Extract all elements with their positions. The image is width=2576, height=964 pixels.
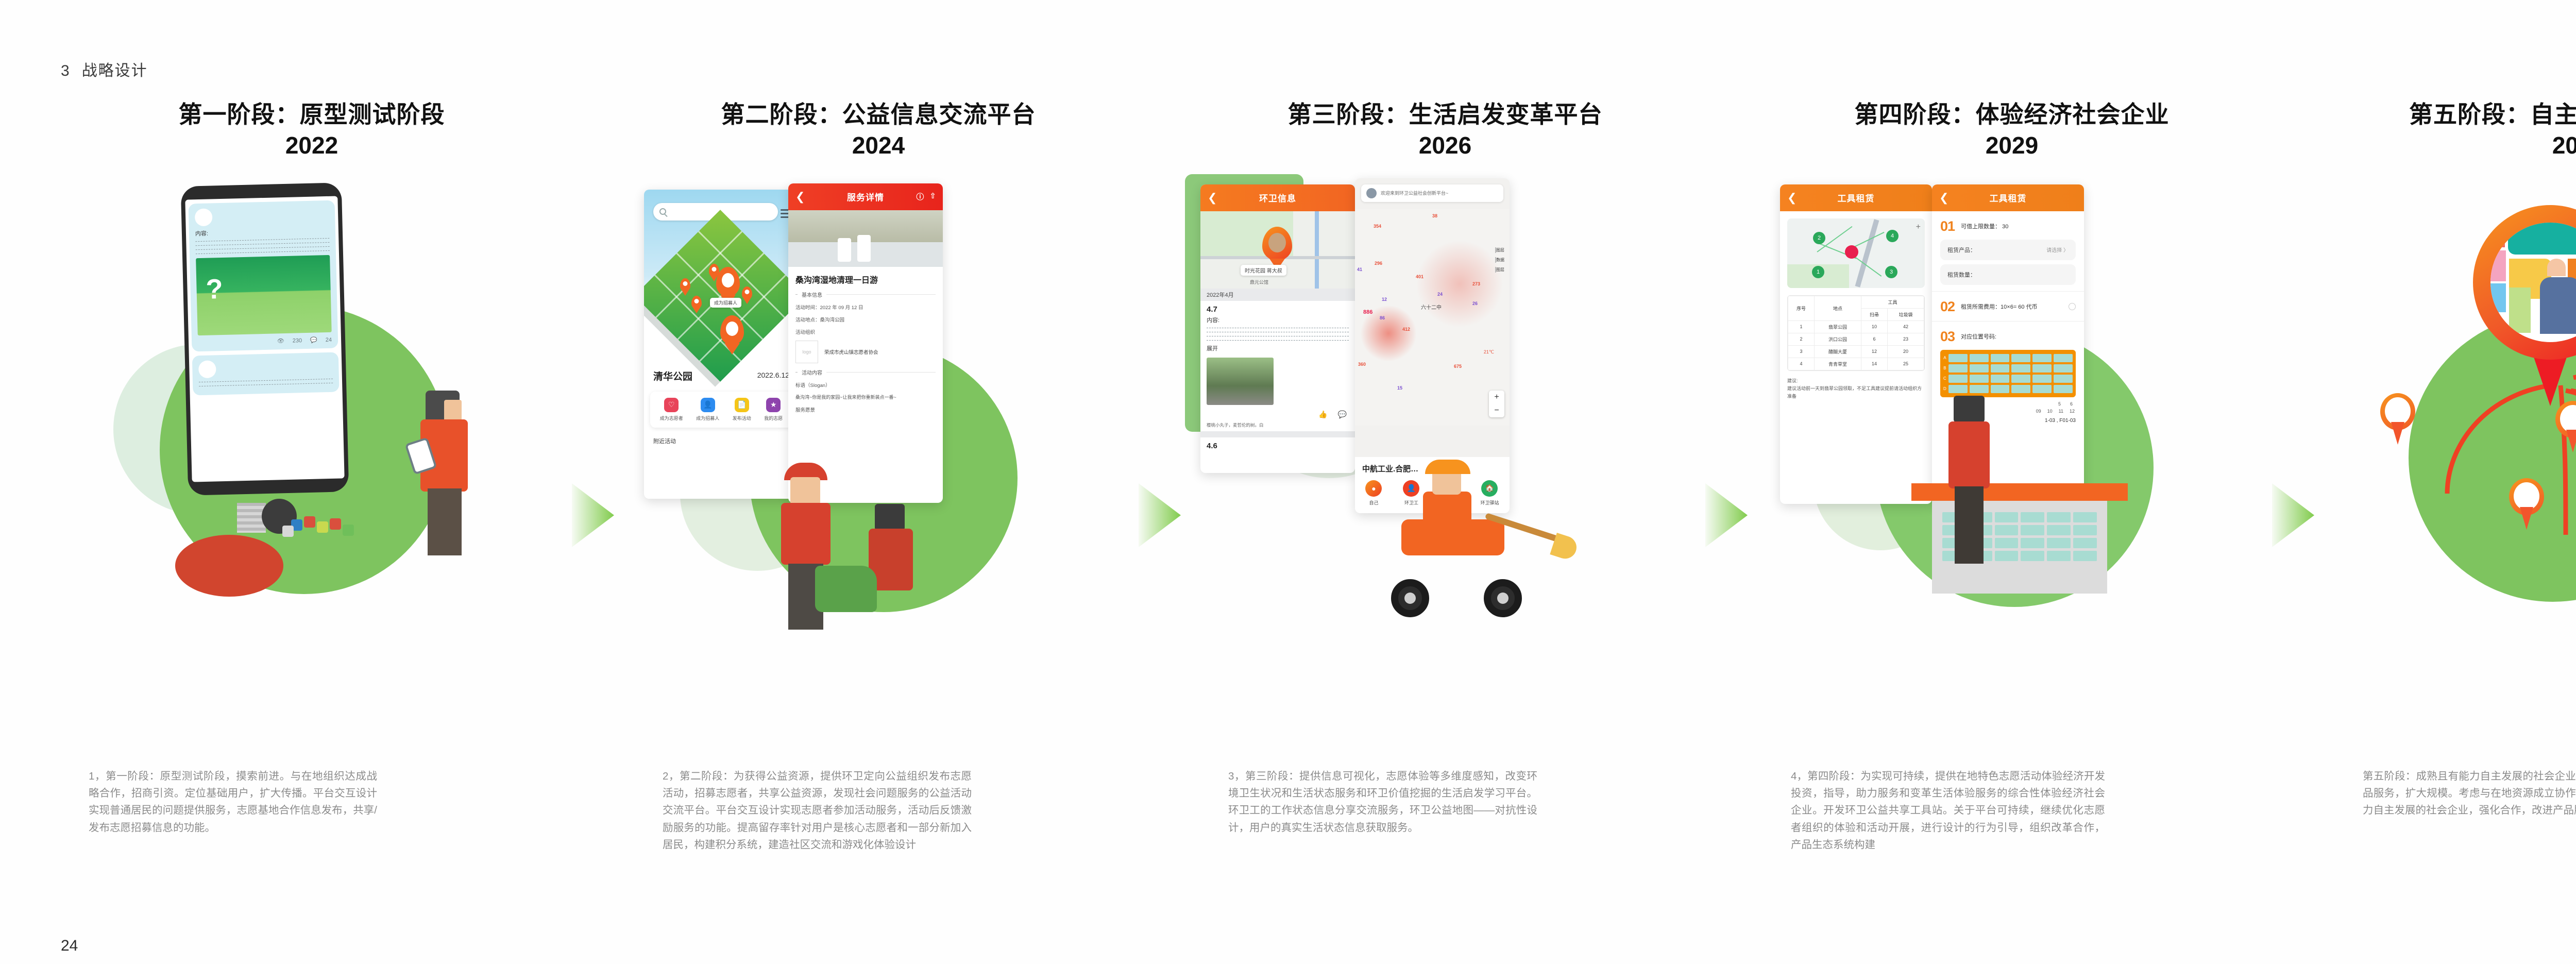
rating-value-2: 4.6 xyxy=(1207,442,1349,450)
share-icon[interactable]: ⇧ xyxy=(929,191,937,202)
litter-item xyxy=(330,518,341,530)
step-text: 对应位置号码: xyxy=(1961,332,1996,341)
map-pin[interactable] xyxy=(680,278,690,292)
map-pin-label: 时光花园 蒋大叔 xyxy=(1241,265,1286,276)
locker-row-label: D xyxy=(1943,386,1946,391)
cell: 25 xyxy=(1888,358,1924,370)
step-3: 03 对应位置号码: xyxy=(1940,329,2076,345)
litter-pile xyxy=(237,499,355,540)
slogan-text: 桑沟湾~你是我的家园~让我来把你重新装点一番~ xyxy=(795,394,936,401)
person-at-shelf xyxy=(1942,396,2004,576)
stage-1-illustration: 内容: ? 👁 230 💬 24 xyxy=(52,174,572,664)
expand-link[interactable]: 展开 xyxy=(1207,344,1349,352)
col-index: 序号 xyxy=(1788,296,1815,320)
stage-1-year: 2022 xyxy=(52,130,572,161)
stage-2-illustration: 成为招募人 清华公园 2022.6.12 ♡ 成为志愿者 👤 成为招募人 xyxy=(618,174,1139,664)
stage-5-year: 2032 xyxy=(2318,130,2576,161)
person-torso xyxy=(1948,421,1990,488)
page-number-left: 24 xyxy=(61,937,78,955)
heat-value: 12 xyxy=(1382,297,1387,302)
detail-title-bar: ❮ 服务详情 ⓘ ⇧ xyxy=(788,183,943,210)
text-line xyxy=(199,378,333,382)
text-line xyxy=(196,242,330,245)
stage-1-title: 第一阶段：原型测试阶段 xyxy=(52,0,572,130)
cell: 12 xyxy=(1861,345,1887,358)
avatar xyxy=(195,208,213,226)
arrow-icon xyxy=(1705,483,1748,547)
quick-action-mine[interactable]: ★ 我的志愿 xyxy=(764,398,783,421)
map-region-navy xyxy=(2540,277,2576,334)
step-number: 03 xyxy=(1940,329,1955,345)
person-face xyxy=(790,477,820,505)
tool-rental-map-mockup: ❮ 工具租赁 1 2 3 4 + xyxy=(1780,184,1932,504)
heat-value: 38 xyxy=(1432,213,1437,218)
col-bag: 垃圾袋 xyxy=(1888,308,1924,320)
locker-row-label: B xyxy=(1943,366,1946,370)
litter-item xyxy=(304,516,315,528)
sanitation-worker-scooter xyxy=(1355,463,1577,617)
stage-5-illustration xyxy=(2318,174,2576,664)
text-line xyxy=(196,250,330,253)
quick-action-row: ♡ 成为志愿者 👤 成为招募人 📄 发布活动 ★ 我的志愿 xyxy=(650,392,792,428)
stage-4-title: 第四阶段：体验经济社会企业 xyxy=(1752,0,2272,130)
comment-icon[interactable]: 💬 xyxy=(1338,410,1347,419)
activity-org-label: 活动组织 xyxy=(795,328,936,335)
cell: 14 xyxy=(1861,358,1887,370)
heat-value: 886 xyxy=(1363,309,1372,315)
person-head xyxy=(1954,396,1985,422)
vision-label: 服务愿景 xyxy=(795,406,936,413)
heart-hands-icon: ♡ xyxy=(664,398,679,412)
heat-value: 360 xyxy=(1358,362,1366,367)
service-detail-mockup: ❮ 服务详情 ⓘ ⇧ 桑沟湾湿地清理一日游 基本信息 活动时间：2022 年 0… xyxy=(788,183,943,503)
stage-4: 第四阶段：体验经济社会企业 2029 ❮ 工具租赁 1 xyxy=(1752,0,2272,964)
table-row: 4青青草堂1425 xyxy=(1788,358,1924,370)
stage-5: 第五阶段：自主发展的社会企业 2032 xyxy=(2318,0,2576,964)
locker-cells xyxy=(1948,354,2073,393)
cell: 1 xyxy=(1788,320,1815,333)
section-label: 活动内容 xyxy=(802,368,822,376)
map-place-name: 清华公园 xyxy=(653,369,692,383)
col-tools: 工具 xyxy=(1861,296,1924,308)
arrow-4 xyxy=(2272,0,2318,964)
step-1: 01 可借上限数量： 30 xyxy=(1940,218,2076,234)
satellite-pin[interactable] xyxy=(2555,401,2576,452)
main-map-pin xyxy=(2473,205,2576,406)
section-label: 基本信息 xyxy=(802,291,822,298)
heat-value: 273 xyxy=(1472,281,1480,286)
photo-person xyxy=(838,238,851,262)
ground-red-patch xyxy=(175,535,283,597)
post-meta: 👁 230 💬 24 xyxy=(198,336,332,346)
step-text: 租赁所需费用：10×6= 60 代币 xyxy=(1961,302,2038,311)
rating-value: 4.7 xyxy=(1207,305,1349,314)
cell: 洪口公园 xyxy=(1815,333,1861,345)
heat-value: 86 xyxy=(1380,315,1385,320)
back-icon[interactable]: ❮ xyxy=(1939,191,1949,205)
map-pin-label: 成为招募人 xyxy=(710,298,741,308)
arrow-1 xyxy=(572,0,618,964)
layer-control-item[interactable]: 图层 xyxy=(1493,267,1506,273)
layer-label: 图层 xyxy=(1496,267,1504,272)
locker-col-label: 6 xyxy=(2070,401,2073,407)
photo-person xyxy=(857,235,871,262)
step-number: 02 xyxy=(1940,299,1955,315)
station-map[interactable]: 1 2 3 4 + xyxy=(1787,218,1925,288)
heat-value: 412 xyxy=(1402,327,1410,332)
litter-item xyxy=(343,525,354,536)
current-location-marker xyxy=(1845,245,1858,259)
advice-label: 建议: xyxy=(1787,377,1925,385)
stage-3: 第三阶段：生活启发变革平台 2026 ❮ 环卫信息 时光花园 蒋大叔 鼎元公馆 xyxy=(1185,0,1705,964)
info-icon[interactable]: ⓘ xyxy=(916,191,924,202)
satellite-pin[interactable] xyxy=(2380,393,2415,445)
advice-text: 建议活动前一天到翡翠公园领取，不足工具建议提前请活动组织方准备 xyxy=(1787,385,1925,401)
content-label: 内容: xyxy=(1207,316,1349,324)
cell: 翡翠公园 xyxy=(1815,320,1861,333)
quick-action-label: 成为志愿者 xyxy=(660,415,683,421)
organizer-name: 荣成市虎山镇志愿者协会 xyxy=(824,348,878,356)
cell: 青青草堂 xyxy=(1815,358,1861,370)
tool-inventory-table: 序号 地点 工具 扫帚 垃圾袋 1翡翠公园1042 2洪口公园623 xyxy=(1787,295,1925,371)
step-2: 02 租赁所需费用：10×6= 60 代币 xyxy=(1940,299,2076,315)
stage-2-description: 2，第二阶段：为获得公益资源，提供环卫定向公益组织发布志愿活动，招募志愿者，共享… xyxy=(663,768,972,853)
step-number: 01 xyxy=(1940,218,1955,234)
temperature: 21℃ xyxy=(1484,349,1494,355)
litter-item xyxy=(317,521,328,533)
sanitation-info-mockup: ❮ 环卫信息 时光花园 蒋大叔 鼎元公馆 2022年4月 4.7 内容: xyxy=(1200,184,1355,473)
locker-num: 09 xyxy=(2036,409,2041,414)
advice-block: 建议: 建议活动前一天到翡翠公园领取，不足工具建议提前请活动组织方准备 xyxy=(1787,377,1925,401)
text-line xyxy=(196,246,330,249)
table-row: 1翡翠公园1042 xyxy=(1788,320,1924,333)
quick-action-recruiter[interactable]: 👤 成为招募人 xyxy=(696,398,719,421)
section-basic-info: 基本信息 xyxy=(795,291,936,298)
field-label: 租赁产品： xyxy=(1947,246,1976,254)
map-landmark: 六十二中 xyxy=(1421,303,1442,311)
scooter-wheel-rear xyxy=(1484,579,1522,617)
cell: 23 xyxy=(1888,333,1924,345)
map-screen-mockup: 成为招募人 清华公园 2022.6.12 ♡ 成为志愿者 👤 成为招募人 xyxy=(644,190,799,499)
date-band: 2022年4月 xyxy=(1200,289,1355,301)
col-place: 地点 xyxy=(1815,296,1861,320)
home-button[interactable] xyxy=(258,400,276,418)
platform-search-bar[interactable]: 欢迎来到环卫公益社会创新平台~ xyxy=(1361,184,1503,202)
table-row: 2洪口公园623 xyxy=(1788,333,1924,345)
feed-content-label: 内容: xyxy=(195,226,329,237)
rental-form-bar-title: 工具租赁 xyxy=(1990,191,2027,204)
comment-text: 樱桃小丸子，麦哲伦的树。白 xyxy=(1207,422,1349,428)
stage-3-title: 第三阶段：生活启发变革平台 xyxy=(1185,0,1705,130)
satellite-pin[interactable] xyxy=(2509,478,2544,530)
detail-bar-title: 服务详情 xyxy=(847,190,884,203)
map-pin[interactable] xyxy=(691,296,702,309)
person-face xyxy=(444,400,462,422)
litter-item xyxy=(282,526,294,537)
stage-4-description: 4，第四阶段：为实现可持续，提供在地特色志愿活动体验经济开发投资，指导，助力服务… xyxy=(1791,768,2105,853)
activity-photo xyxy=(788,210,943,267)
quantity-field[interactable]: 租赁数量： xyxy=(1940,264,2076,285)
star-icon: ★ xyxy=(766,398,781,412)
section-activity-content: 活动内容 xyxy=(795,368,936,376)
zoom-controls[interactable]: + − xyxy=(1489,391,1504,417)
cell: 20 xyxy=(1888,345,1924,358)
avatar xyxy=(198,360,216,378)
table-row: 3醴醐大厦1220 xyxy=(1788,345,1924,358)
person-head xyxy=(875,504,905,531)
locker-num: 11 xyxy=(2059,409,2063,414)
cell: 醴醐大厦 xyxy=(1815,345,1861,358)
back-icon[interactable]: ❮ xyxy=(1208,191,1217,205)
stage-4-illustration: ❮ 工具租赁 1 2 3 4 + xyxy=(1752,174,2272,664)
heat-value: 401 xyxy=(1416,274,1423,279)
heat-value: 24 xyxy=(1437,292,1443,297)
stage-1: 第一阶段：原型测试阶段 2022 内容: ? xyxy=(52,0,572,964)
back-icon[interactable]: ❮ xyxy=(795,190,805,204)
cell: 3 xyxy=(1788,345,1815,358)
post-actions: 👍 💬 xyxy=(1209,410,1347,419)
info-bar-title: 环卫信息 xyxy=(1259,191,1296,204)
stage-1-description: 1，第一阶段：原型测试阶段，摸索前进。与在地组织达成战略合作，招商引资。定位基础… xyxy=(89,768,377,836)
locker-grid[interactable]: A B C D xyxy=(1940,350,2076,397)
quick-action-label: 成为招募人 xyxy=(696,415,719,421)
activity-place: 活动地点：桑沟湾公园 xyxy=(795,316,936,323)
col-broom: 扫帚 xyxy=(1861,308,1887,320)
map-date: 2022.6.12 xyxy=(757,371,789,379)
station-node[interactable]: 1 xyxy=(1812,266,1824,278)
zoom-in-icon[interactable]: + xyxy=(1916,223,1921,232)
map-region-lightgreen xyxy=(2509,287,2531,333)
question-mark-overlay: ? xyxy=(206,273,224,306)
locker-num: 12 xyxy=(2070,409,2075,414)
stage-4-year: 2029 xyxy=(1752,130,2272,161)
post-image: ? xyxy=(196,255,332,335)
station-node[interactable]: 2 xyxy=(1813,232,1825,244)
phone-mockup: 内容: ? 👁 230 💬 24 xyxy=(181,182,349,495)
search-placeholder: 欢迎来到环卫公益社会创新平台~ xyxy=(1381,190,1448,196)
arrow-2 xyxy=(1139,0,1185,964)
avatar xyxy=(1366,188,1377,198)
rental-title-bar: ❮ 工具租赁 xyxy=(1780,184,1932,211)
arrow-icon xyxy=(1139,483,1181,547)
layer-label: 图层 xyxy=(1496,248,1504,252)
zoom-out-button[interactable]: − xyxy=(1489,404,1504,417)
layer-control-item[interactable]: 图层 xyxy=(1493,247,1506,253)
divider xyxy=(1932,291,2084,292)
quick-action-label: 我的志愿 xyxy=(764,415,783,421)
stage-2-title: 第二阶段：公益信息交流平台 xyxy=(618,0,1139,130)
person-with-phone xyxy=(412,391,489,561)
arrow-icon xyxy=(572,483,614,547)
garbage-bag xyxy=(815,566,877,612)
post-photo xyxy=(1207,358,1274,405)
volunteer-person-b xyxy=(860,504,948,633)
organizer-row: logo 荣成市虎山镇志愿者协会 xyxy=(795,341,936,363)
heat-value: 41 xyxy=(1357,267,1362,272)
locker-col-label: 5 xyxy=(2058,401,2061,407)
layer-controls[interactable]: 图层 数据 图层 xyxy=(1493,247,1506,273)
like-icon[interactable]: 👍 xyxy=(1318,410,1327,419)
layer-control-item[interactable]: 数据 xyxy=(1493,257,1506,263)
mini-map: 时光花园 蒋大叔 鼎元公馆 xyxy=(1200,211,1355,289)
text-line xyxy=(195,238,329,241)
stage-3-year: 2026 xyxy=(1185,130,1705,161)
stage-2: 第二阶段：公益信息交流平台 2024 成为招募人 xyxy=(618,0,1139,964)
phone-screen: 内容: ? 👁 230 💬 24 xyxy=(185,196,344,482)
arrow-3 xyxy=(1705,0,1752,964)
back-icon[interactable]: ❮ xyxy=(1787,191,1797,205)
comment-count: 24 xyxy=(326,336,332,343)
view-count-icon: 👁 xyxy=(277,337,284,344)
locker-row-label: A xyxy=(1943,356,1946,360)
stage-roadmap: 第一阶段：原型测试阶段 2022 内容: ? xyxy=(0,0,2576,964)
rider-hat xyxy=(1425,460,1470,474)
product-select-field[interactable]: 租赁产品： 请选择 〉 xyxy=(1940,240,2076,260)
feed-post-card[interactable]: 内容: ? 👁 230 💬 24 xyxy=(189,200,338,351)
rider-torso xyxy=(1423,492,1471,538)
cell: 10 xyxy=(1861,320,1887,333)
document-icon: 📄 xyxy=(735,398,749,412)
heat-value: 15 xyxy=(1397,385,1402,391)
heat-value: 26 xyxy=(1472,301,1478,306)
radio-button[interactable] xyxy=(2069,303,2076,310)
stage-3-description: 3，第三阶段：提供信息可视化，志愿体验等多维度感知，改变环境卫生状况和生活状态服… xyxy=(1228,768,1537,836)
add-user-icon: 👤 xyxy=(701,398,715,412)
zoom-in-button[interactable]: + xyxy=(1489,391,1504,404)
field-value: 请选择 〉 xyxy=(2046,246,2069,254)
locker-row-label: C xyxy=(1943,376,1946,381)
arrow-icon xyxy=(2272,483,2314,547)
scooter-wheel-front xyxy=(1391,579,1429,617)
map-pin[interactable] xyxy=(742,286,752,300)
heat-value: 354 xyxy=(1374,224,1381,229)
heat-value: 296 xyxy=(1375,261,1382,266)
rental-bar-title: 工具租赁 xyxy=(1838,191,1875,204)
slogan-label: 标语（Slogan） xyxy=(795,381,936,388)
stage-5-description: 第五阶段：成熟且有能力自主发展的社会企业，强化合作，改进产品服务，扩大规模。考虑… xyxy=(2363,768,2576,819)
rental-form-title-bar: ❮ 工具租赁 xyxy=(1932,184,2084,211)
cell: 42 xyxy=(1888,320,1924,333)
nearby-activities-title: 附近活动 xyxy=(653,437,676,445)
map-landmark: 鼎元公馆 xyxy=(1250,279,1268,285)
cell: 2 xyxy=(1788,333,1815,345)
locker-row-labels: A B C D xyxy=(1943,354,1946,393)
info-title-bar: ❮ 环卫信息 xyxy=(1200,184,1355,211)
map-pin[interactable] xyxy=(709,264,719,277)
map-region-red xyxy=(2490,232,2505,247)
stage-3-illustration: ❮ 环卫信息 时光花园 蒋大叔 鼎元公馆 2022年4月 4.7 内容: xyxy=(1185,174,1705,664)
feed-post-card-secondary[interactable] xyxy=(192,352,340,395)
step-text: 可借上限数量： 30 xyxy=(1961,222,2008,230)
view-count: 230 xyxy=(293,337,302,343)
station-node[interactable]: 4 xyxy=(1886,230,1899,242)
person-legs xyxy=(428,488,462,555)
station-node[interactable]: 3 xyxy=(1885,266,1897,278)
comment-icon: 💬 xyxy=(310,336,317,343)
search-icon xyxy=(659,208,666,215)
text-line xyxy=(199,382,333,386)
map-region-pink xyxy=(2490,250,2506,281)
heatmap-canvas[interactable]: 354 38 296 401 41 12 886 24 273 86 26 41… xyxy=(1355,209,1510,426)
cell: 6 xyxy=(1861,333,1887,345)
field-label: 租赁数量： xyxy=(1947,270,1976,279)
quick-action-publish[interactable]: 📄 发布活动 xyxy=(733,398,751,421)
separator xyxy=(1200,431,1355,437)
person-legs xyxy=(1955,486,1984,564)
locker-num: 10 xyxy=(2047,409,2053,414)
map-region-teal xyxy=(2508,223,2576,255)
activity-time: 活动时间：2022 年 09 月 12 日 xyxy=(795,303,936,311)
map-region-blue xyxy=(2490,283,2506,312)
layer-label: 数据 xyxy=(1496,258,1504,262)
map-region-peach xyxy=(2547,259,2566,276)
person-torso xyxy=(781,503,831,565)
bar-actions: ⓘ ⇧ xyxy=(916,191,937,202)
divider xyxy=(1932,321,2084,322)
logo-placeholder: logo xyxy=(795,341,818,363)
stage-2-year: 2024 xyxy=(618,130,1139,161)
activity-title: 桑沟湾湿地清理一日游 xyxy=(795,273,936,285)
quick-action-volunteer[interactable]: ♡ 成为志愿者 xyxy=(660,398,683,421)
cell: 4 xyxy=(1788,358,1815,370)
heat-value: 675 xyxy=(1454,364,1462,369)
quick-action-label: 发布活动 xyxy=(733,415,751,421)
stage-5-title: 第五阶段：自主发展的社会企业 xyxy=(2318,0,2576,130)
